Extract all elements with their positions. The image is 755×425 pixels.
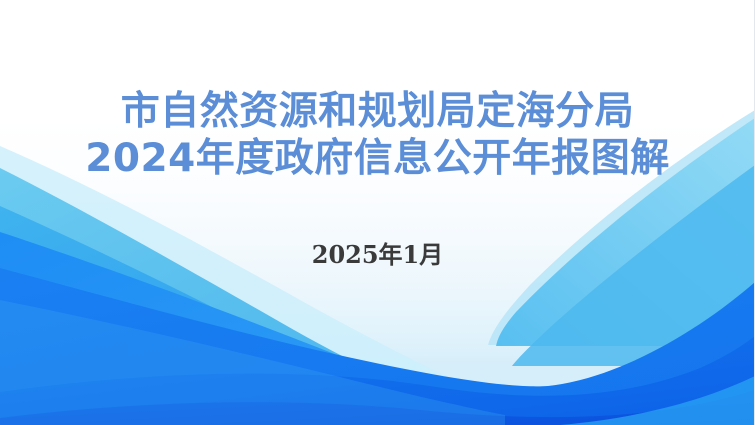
title-line-1: 市自然资源和规划局定海分局: [0, 88, 755, 135]
slide-date: 2025年1月: [0, 240, 755, 270]
presentation-slide: 市自然资源和规划局定海分局 2024年度政府信息公开年报图解 2025年1月: [0, 0, 755, 425]
slide-title: 市自然资源和规划局定海分局 2024年度政府信息公开年报图解: [0, 88, 755, 182]
blue-wave-decoration: [0, 0, 755, 425]
date-text: 2025年1月: [0, 240, 755, 270]
title-line-2: 2024年度政府信息公开年报图解: [0, 135, 755, 182]
